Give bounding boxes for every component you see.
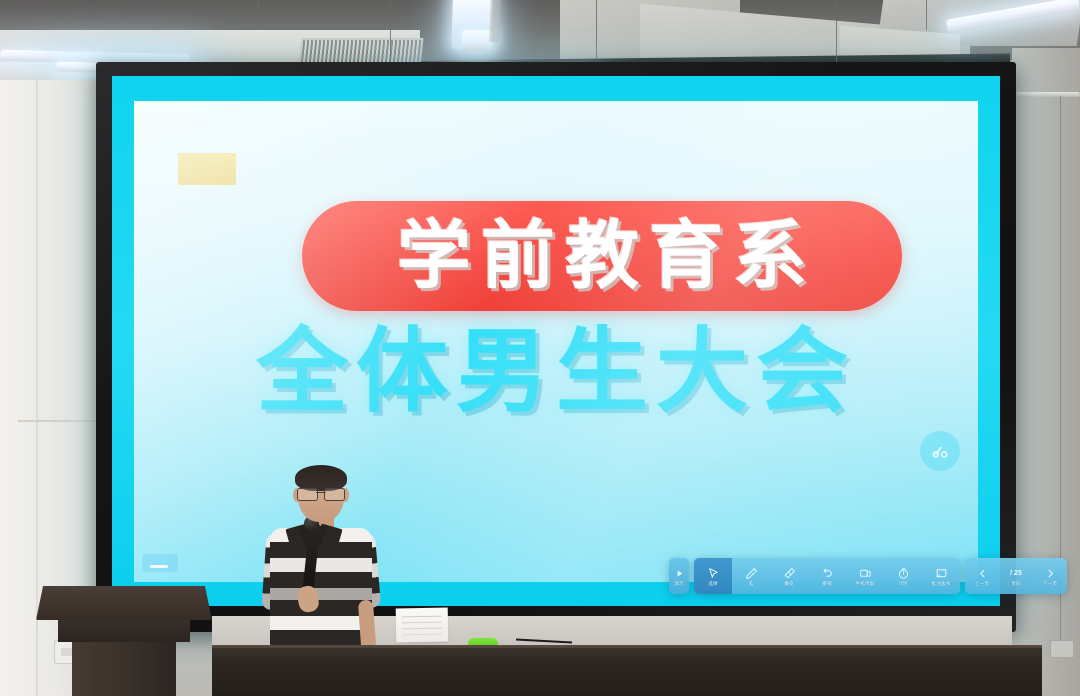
slide-title-text: 学前教育系 xyxy=(387,219,817,293)
toolbar-label-capture: 手机传屏 xyxy=(855,582,874,587)
toolbar-label-timer: 计时 xyxy=(898,582,908,587)
toolbar-tool-pen[interactable]: 笔 xyxy=(732,558,770,594)
page-prev-label: 上一页 xyxy=(975,582,989,587)
page-indicator-label: 页码 xyxy=(1011,582,1021,587)
presentation-slide[interactable]: 学前教育系 全体男生大会 xyxy=(134,101,978,582)
presenter-striped-shirt xyxy=(270,528,372,660)
toolbar-page-nav[interactable]: 上一页 / 25 页码 下一页 xyxy=(965,558,1067,594)
toolbar-play-button[interactable]: 演示 xyxy=(669,558,689,594)
menu-chip-icon[interactable] xyxy=(142,554,178,572)
capture-icon xyxy=(859,566,872,581)
light-cap xyxy=(489,0,501,42)
toolbar-label-pen: 笔 xyxy=(749,582,754,587)
page-next-button[interactable]: 下一页 xyxy=(1033,558,1067,594)
slide-subtitle-text: 全体男生大会 xyxy=(134,326,978,418)
toolbar-tool-eraser[interactable]: 橡皮 xyxy=(770,558,808,594)
toolbar-label-cursor: 选择 xyxy=(708,582,718,587)
eraser-icon xyxy=(783,566,796,581)
undo-icon xyxy=(821,566,834,581)
podium-body xyxy=(72,640,176,696)
light-wire-1 xyxy=(390,0,391,62)
toolbar-tool-group[interactable]: 选择 笔 橡皮 撤销 xyxy=(694,558,960,594)
pen-icon xyxy=(745,566,758,581)
right-wall xyxy=(1012,48,1080,696)
eyeglasses-icon xyxy=(297,488,345,499)
chevron-left-icon xyxy=(977,566,988,581)
page-next-label: 下一页 xyxy=(1043,582,1057,587)
toolbar-tool-timer[interactable]: 计时 xyxy=(884,558,922,594)
toolbar-label-eraser: 橡皮 xyxy=(784,582,794,587)
page-prev-button[interactable]: 上一页 xyxy=(965,558,999,594)
light-wire-2 xyxy=(258,0,259,28)
page-indicator[interactable]: / 25 页码 xyxy=(999,558,1033,594)
share-icon[interactable] xyxy=(920,431,960,471)
light-wire-3 xyxy=(596,0,597,60)
decor-yellow-block xyxy=(178,153,236,185)
white-paper xyxy=(396,608,449,643)
timer-icon xyxy=(897,566,910,581)
light-wire-5 xyxy=(926,0,927,30)
toolbar-play-label: 演示 xyxy=(674,582,684,587)
right-wall-rail xyxy=(1016,92,1080,97)
toolbar-tool-whiteboard[interactable]: 批注板书 xyxy=(922,558,960,594)
right-wall-outlet xyxy=(1050,640,1074,658)
whiteboard-icon xyxy=(935,566,948,581)
slide-title-pill: 学前教育系 xyxy=(302,201,902,311)
eyeglasses-bridge xyxy=(316,492,326,493)
interactive-display-screen[interactable]: 学前教育系 全体男生大会 xyxy=(112,76,1000,606)
chevron-right-icon xyxy=(1045,566,1056,581)
front-table xyxy=(212,648,1042,696)
lecture-hall-photo: 学前教育系 全体男生大会 演示 选择 xyxy=(0,0,1080,696)
toolbar-tool-undo[interactable]: 撤销 xyxy=(808,558,846,594)
podium xyxy=(36,586,212,696)
cursor-icon xyxy=(707,566,720,581)
toolbar-tool-capture[interactable]: 手机传屏 xyxy=(846,558,884,594)
light-wire-4 xyxy=(836,0,837,62)
toolbar-tool-cursor[interactable]: 选择 xyxy=(694,558,732,594)
toolbar-label-undo: 撤销 xyxy=(822,582,832,587)
toolbar-label-whiteboard: 批注板书 xyxy=(931,582,950,587)
ceiling-tube-light-1b xyxy=(462,30,492,52)
page-indicator-value: / 25 xyxy=(1010,566,1022,581)
podium-top xyxy=(36,586,212,620)
play-icon xyxy=(675,566,684,581)
presentation-toolbar[interactable]: 演示 选择 笔 橡皮 xyxy=(669,558,1067,594)
